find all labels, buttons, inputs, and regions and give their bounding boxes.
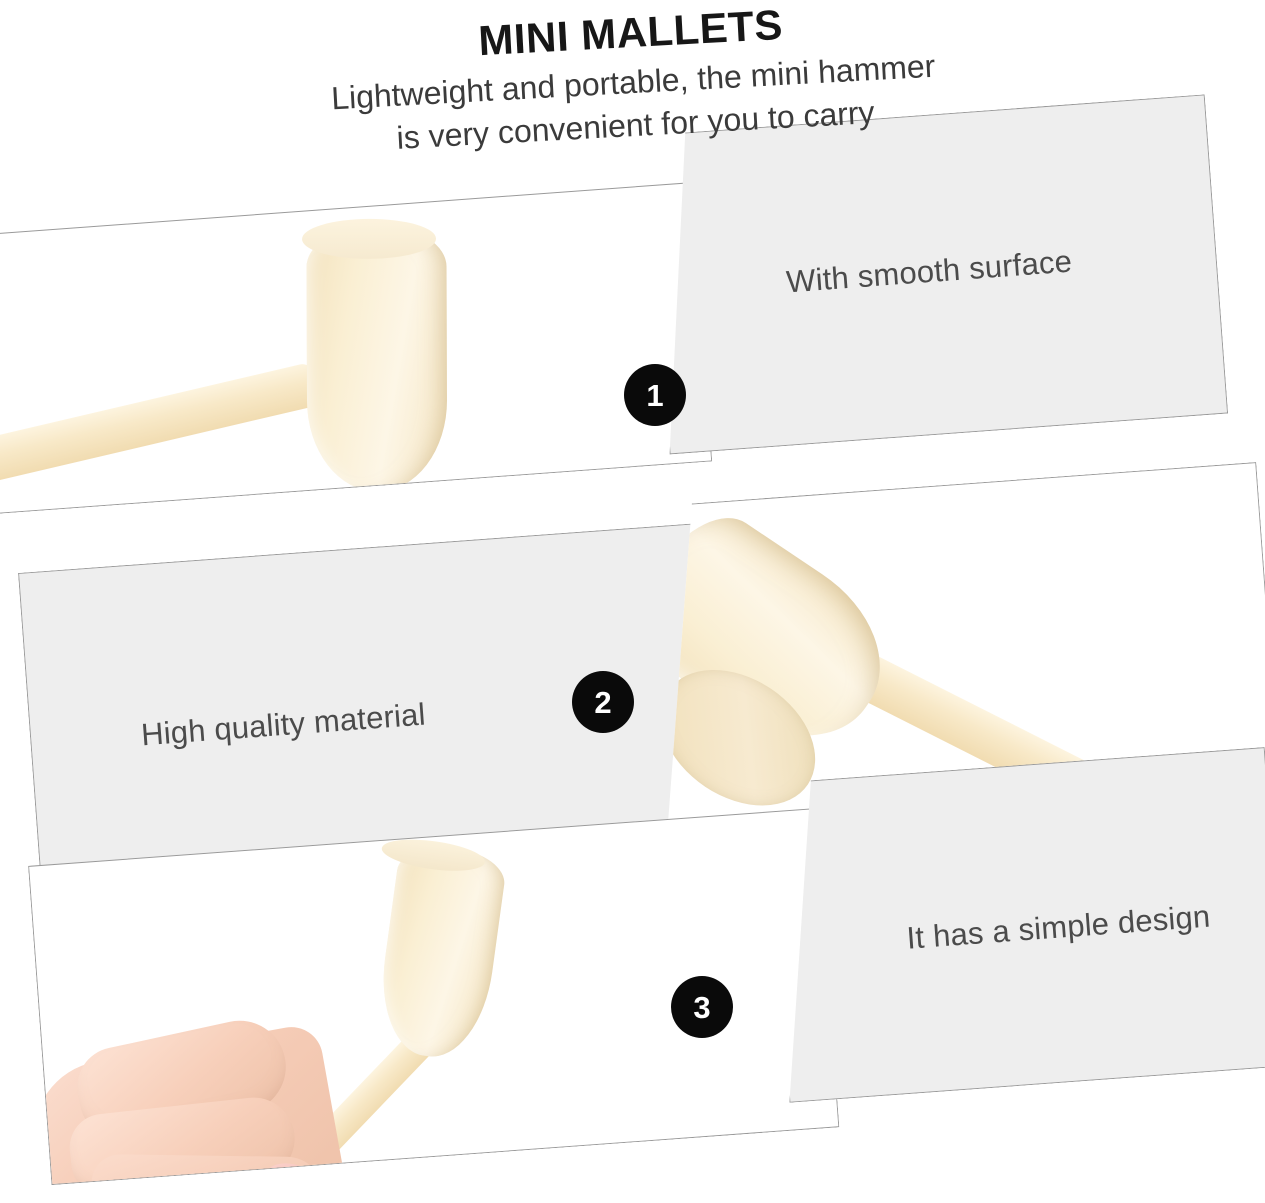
- feature-3-text-card: It has a simple design: [766, 747, 1265, 1103]
- mallet-head: [306, 226, 447, 491]
- mallet-head: [373, 841, 509, 1064]
- feature-3-number-badge: 3: [671, 976, 733, 1038]
- infographic-canvas: MINI MALLETS Lightweight and portable, t…: [0, 0, 1265, 1203]
- header-inner: MINI MALLETS Lightweight and portable, t…: [130, 0, 1136, 173]
- feature-1-caption: With smooth surface: [785, 244, 1073, 301]
- header: MINI MALLETS Lightweight and portable, t…: [0, 0, 1265, 195]
- feature-1-photo: [0, 182, 712, 514]
- feature-1-number-badge: 1: [624, 364, 686, 426]
- mallet-handle: [0, 362, 321, 489]
- mallet-icon: [0, 198, 515, 514]
- feature-2-number-badge: 2: [572, 671, 634, 733]
- feature-2-caption: High quality material: [140, 697, 427, 754]
- hand-icon: [28, 1018, 372, 1185]
- feature-3-caption: It has a simple design: [905, 899, 1211, 957]
- hand-thumb: [91, 1154, 324, 1185]
